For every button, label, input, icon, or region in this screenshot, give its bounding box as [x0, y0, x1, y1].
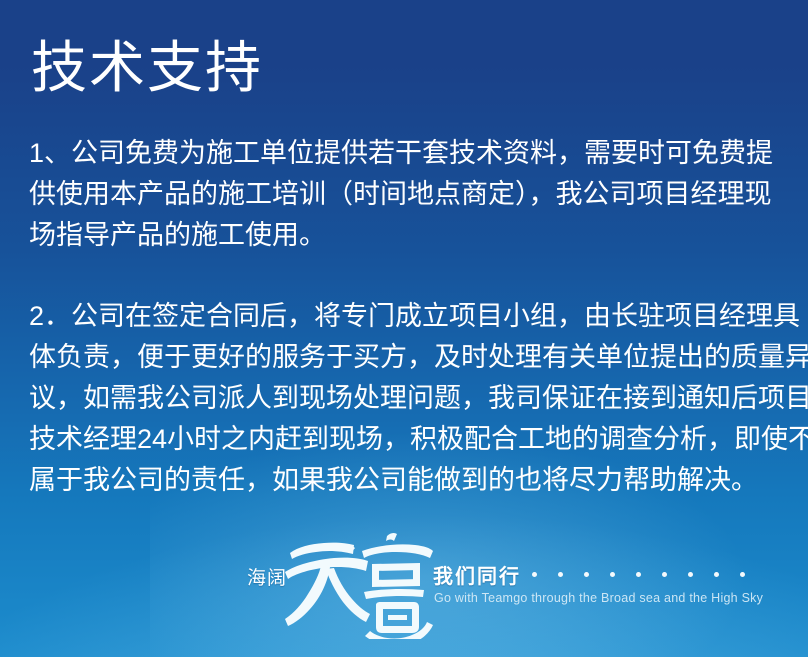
slide-canvas: 技术支持 1、公司免费为施工单位提供若干套技术资料，需要时可免费提 供使用本产品…	[0, 0, 808, 657]
paragraph-2-line-3: 议，如需我公司派人到现场处理问题，我司保证在接到通知后项目	[29, 378, 781, 419]
paragraph-1-line-1: 1、公司免费为施工单位提供若干套技术资料，需要时可免费提	[29, 133, 781, 174]
logo-dot	[688, 572, 693, 577]
logo-dot-row	[532, 572, 750, 580]
paragraph-2-line-4: 技术经理24小时之内赶到现场，积极配合工地的调查分析，即使不	[29, 419, 781, 460]
company-logo: 海阔	[238, 533, 698, 643]
logo-dot	[584, 572, 589, 577]
logo-dot	[740, 572, 745, 577]
paragraph-2-line-5: 属于我公司的责任，如果我公司能做到的也将尽力帮助解决。	[29, 460, 781, 501]
paragraph-1-line-2: 供使用本产品的施工培训（时间地点商定），我公司项目经理现	[29, 174, 781, 215]
logo-dot	[714, 572, 719, 577]
paragraph-2-line-1: 2．公司在签定合同后，将专门成立项目小组，由长驻项目经理具	[29, 296, 781, 337]
page-title: 技术支持	[31, 33, 263, 103]
logo-calligraphy-tiangao	[284, 527, 434, 639]
logo-dot	[636, 572, 641, 577]
paragraph-2-line-2: 体负责，便于更好的服务于买方，及时处理有关单位提出的质量异	[29, 337, 781, 378]
logo-dot	[662, 572, 667, 577]
logo-dot	[610, 572, 615, 577]
logo-suffix-text: 我们同行	[433, 566, 521, 588]
logo-english-tagline: Go with Teamgo through the Broad sea and…	[434, 591, 763, 606]
logo-dot	[532, 572, 537, 577]
logo-prefix-text: 海阔	[247, 569, 287, 589]
paragraph-1: 1、公司免费为施工单位提供若干套技术资料，需要时可免费提 供使用本产品的施工培训…	[29, 133, 781, 256]
paragraph-1-line-3: 场指导产品的施工使用。	[29, 215, 781, 256]
paragraph-2: 2．公司在签定合同后，将专门成立项目小组，由长驻项目经理具 体负责，便于更好的服…	[29, 296, 781, 501]
logo-dot	[558, 572, 563, 577]
